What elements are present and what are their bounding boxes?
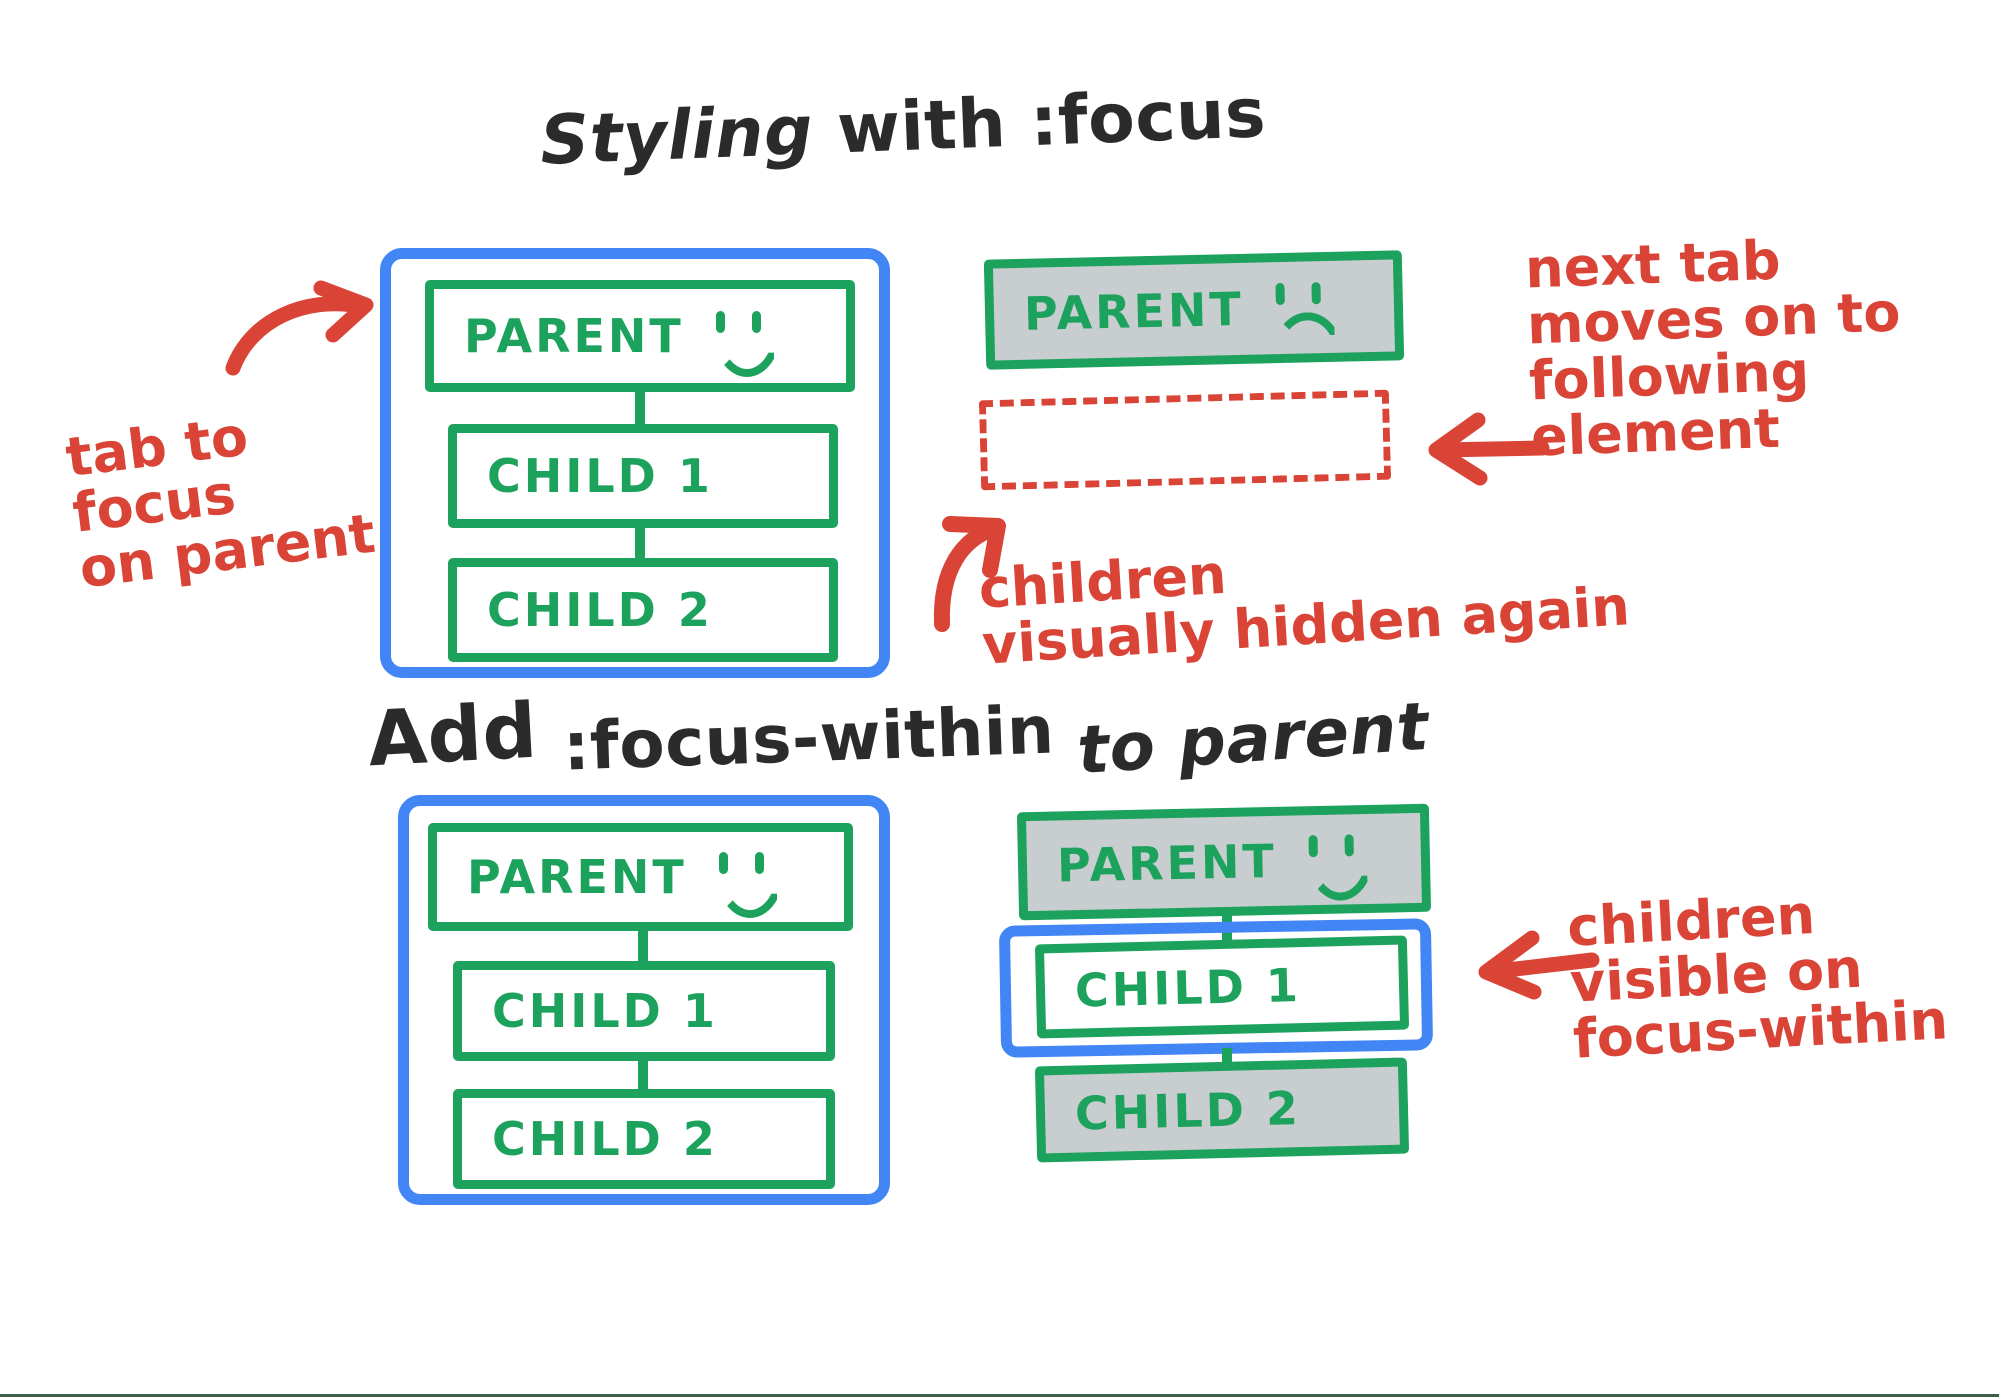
- node-label: CHILD 2: [462, 1112, 718, 1166]
- node-label: CHILD 1: [457, 449, 713, 503]
- node-child-2[interactable]: CHILD 2: [1035, 1057, 1409, 1162]
- node-label: PARENT: [434, 309, 684, 363]
- node-parent[interactable]: PARENT: [984, 250, 1404, 369]
- smiley-face-icon: [1300, 834, 1363, 885]
- node-parent[interactable]: PARENT: [1017, 804, 1431, 921]
- annotation-next-tab: next tab moves on to following element: [1524, 229, 1905, 467]
- smiley-face-icon: [708, 311, 770, 361]
- node-label: PARENT: [1026, 834, 1277, 893]
- node-label: CHILD 1: [462, 984, 718, 1038]
- subtitle-add: Add: [366, 686, 540, 784]
- diagram-top-left: PARENT CHILD 1 CHILD 2: [380, 248, 890, 678]
- page-title: Styling with :focus: [539, 74, 1268, 181]
- node-label: CHILD 2: [457, 583, 713, 637]
- smiley-face-icon: [711, 852, 773, 902]
- node-parent[interactable]: PARENT: [428, 823, 853, 931]
- node-child-1[interactable]: CHILD 1: [453, 961, 835, 1061]
- subtitle-selector: :focus-within: [562, 691, 1056, 785]
- node-label: PARENT: [993, 282, 1244, 342]
- diagram-bottom-left: PARENT CHILD 1 CHILD 2: [398, 795, 890, 1205]
- node-label: CHILD 1: [1044, 958, 1301, 1018]
- annotation-children-hidden: children visually hidden again: [977, 522, 1631, 674]
- node-child-1[interactable]: CHILD 1: [1035, 935, 1409, 1038]
- node-label: CHILD 2: [1044, 1081, 1301, 1141]
- node-child-2[interactable]: CHILD 2: [453, 1089, 835, 1189]
- diagram-top-right: PARENT: [985, 255, 1405, 505]
- page-title-part-b: with :focus: [836, 74, 1268, 169]
- curved-arrow-right-icon: [225, 280, 395, 380]
- node-child-2[interactable]: CHILD 2: [448, 558, 838, 662]
- hidden-children-placeholder: [979, 390, 1391, 491]
- whiteboard-canvas: Styling with :focus PARENT CHILD 1 CHILD…: [0, 0, 1999, 1397]
- page-title-part-a: Styling: [539, 91, 839, 181]
- node-parent[interactable]: PARENT: [425, 280, 855, 392]
- node-label: PARENT: [437, 850, 687, 904]
- frowny-face-icon: [1267, 282, 1330, 333]
- connector-child1-child2: [635, 528, 645, 558]
- connector-parent-child1: [635, 392, 645, 424]
- subtitle-tail: to parent: [1074, 688, 1431, 789]
- connector-child1-child2: [638, 1061, 648, 1089]
- annotation-children-visible: children visible on focus-within: [1566, 880, 1950, 1068]
- annotation-tab-to-focus: tab to focus on parent: [63, 395, 378, 598]
- section-subtitle: Add:focus-withinto parent: [368, 690, 1429, 779]
- diagram-bottom-right: PARENT CHILD 1 CHILD 2: [1000, 800, 1440, 1170]
- node-child-1[interactable]: CHILD 1: [448, 424, 838, 528]
- connector-parent-child1: [638, 931, 648, 961]
